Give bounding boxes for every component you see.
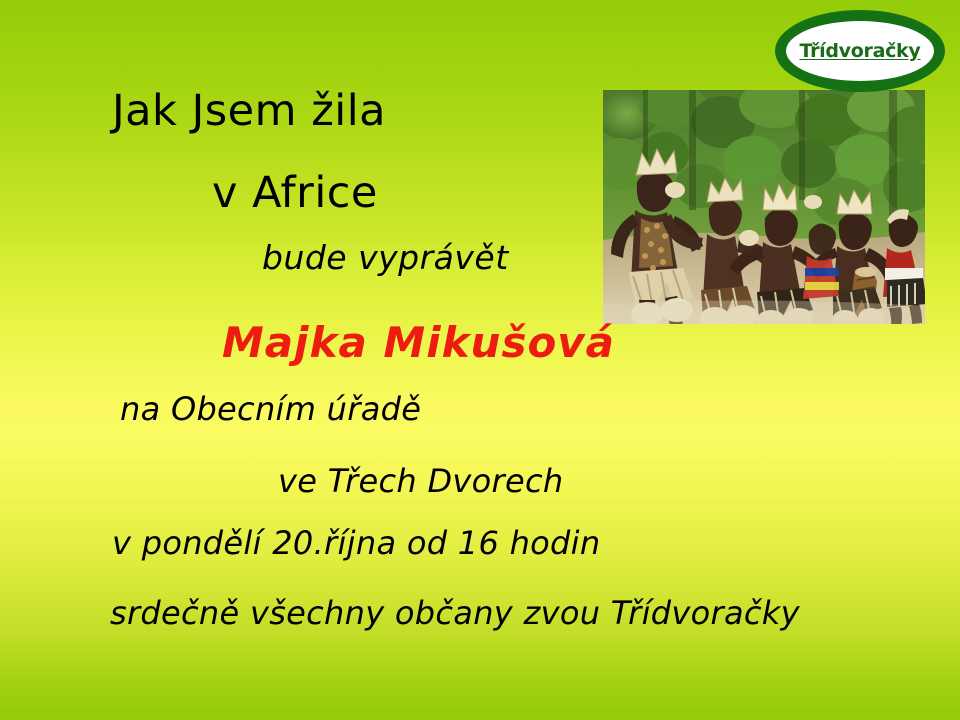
- title-line-2: v Africe: [212, 168, 378, 218]
- poster-slide: Třídvoračky Jak Jsem žila v Africe bude …: [0, 0, 960, 720]
- teller-intro-text: bude vyprávět: [262, 238, 509, 277]
- datetime-line: v pondělí 20.října od 16 hodin: [112, 524, 600, 562]
- invitation-line: srdečně všechny občany zvou Třídvoračky: [110, 594, 800, 632]
- title-line-1: Jak Jsem žila: [112, 86, 386, 136]
- african-dancers-photo: [603, 90, 925, 324]
- venue-line-2: ve Třech Dvorech: [278, 462, 563, 500]
- photo-illustration: [603, 90, 925, 324]
- venue-line-1: na Obecním úřadě: [120, 390, 421, 428]
- tridvoracky-logo: Třídvoračky: [775, 10, 945, 92]
- logo-text: Třídvoračky: [800, 40, 921, 62]
- speaker-name: Majka Mikušová: [222, 318, 615, 367]
